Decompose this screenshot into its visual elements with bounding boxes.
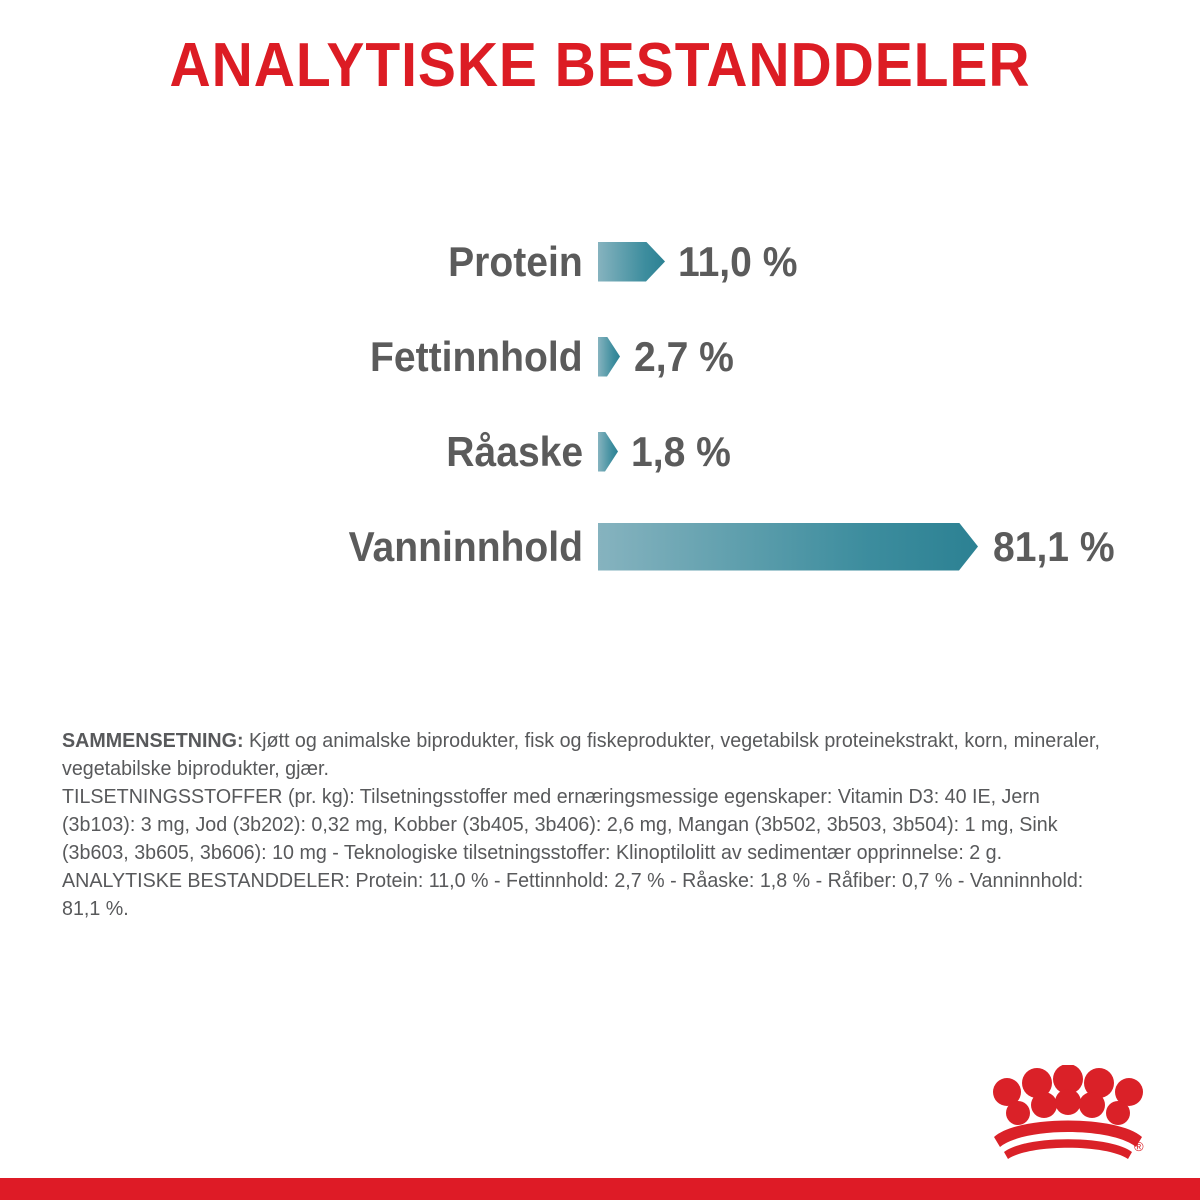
chart-row-label: Fettinnhold	[370, 336, 583, 378]
bar-arrow-shape	[598, 432, 618, 472]
bar-arrow-shape	[598, 242, 665, 282]
chart-row-value: 1,8 %	[631, 431, 731, 473]
chart-row-label: Vanninnhold	[349, 526, 583, 568]
chart-row-value: 2,7 %	[634, 336, 734, 378]
chart-row-label: Råaske	[446, 431, 583, 473]
composition-additives: TILSETNINGSSTOFFER (pr. kg): Tilsetnings…	[62, 783, 1104, 867]
bar-arrow-shape	[598, 523, 978, 571]
chart-row-value: 81,1 %	[993, 526, 1115, 568]
page-title: ANALYTISKE BESTANDDELER	[48, 32, 1152, 100]
product-info-panel: ANALYTISKE BESTANDDELER Protein 11,0 % F…	[0, 0, 1200, 1200]
bar-arrow-shape	[598, 337, 620, 377]
chart-row-vanninnhold: Vanninnhold 81,1 %	[0, 499, 1200, 594]
composition-ingredients-paragraph: SAMMENSETNING: Kjøtt og animalske biprod…	[62, 727, 1104, 783]
chart-row-label: Protein	[448, 241, 583, 283]
composition-lead-label: SAMMENSETNING:	[62, 729, 244, 752]
chart-bar-protein	[598, 242, 665, 282]
chart-row-protein: Protein 11,0 %	[0, 214, 1200, 309]
chart-row-raaske: Råaske 1,8 %	[0, 404, 1200, 499]
composition-text-block: SAMMENSETNING: Kjøtt og animalske biprod…	[62, 727, 1104, 923]
chart-row-fettinnhold: Fettinnhold 2,7 %	[0, 309, 1200, 404]
chart-bar-vanninnhold	[598, 523, 978, 571]
registered-trademark-mark: ®	[1134, 1139, 1144, 1154]
chart-row-value: 11,0 %	[678, 241, 797, 283]
composition-analytical-constituents: ANALYTISKE BESTANDDELER: Protein: 11,0 %…	[62, 867, 1104, 923]
royal-canin-crown-logo: ®	[988, 1065, 1148, 1165]
analytical-constituents-chart: Protein 11,0 % Fettinnhold 2,7 % Råaske …	[0, 214, 1200, 594]
chart-bar-raaske	[598, 432, 618, 472]
chart-bar-fettinnhold	[598, 337, 620, 377]
bottom-red-bar	[0, 1178, 1200, 1200]
